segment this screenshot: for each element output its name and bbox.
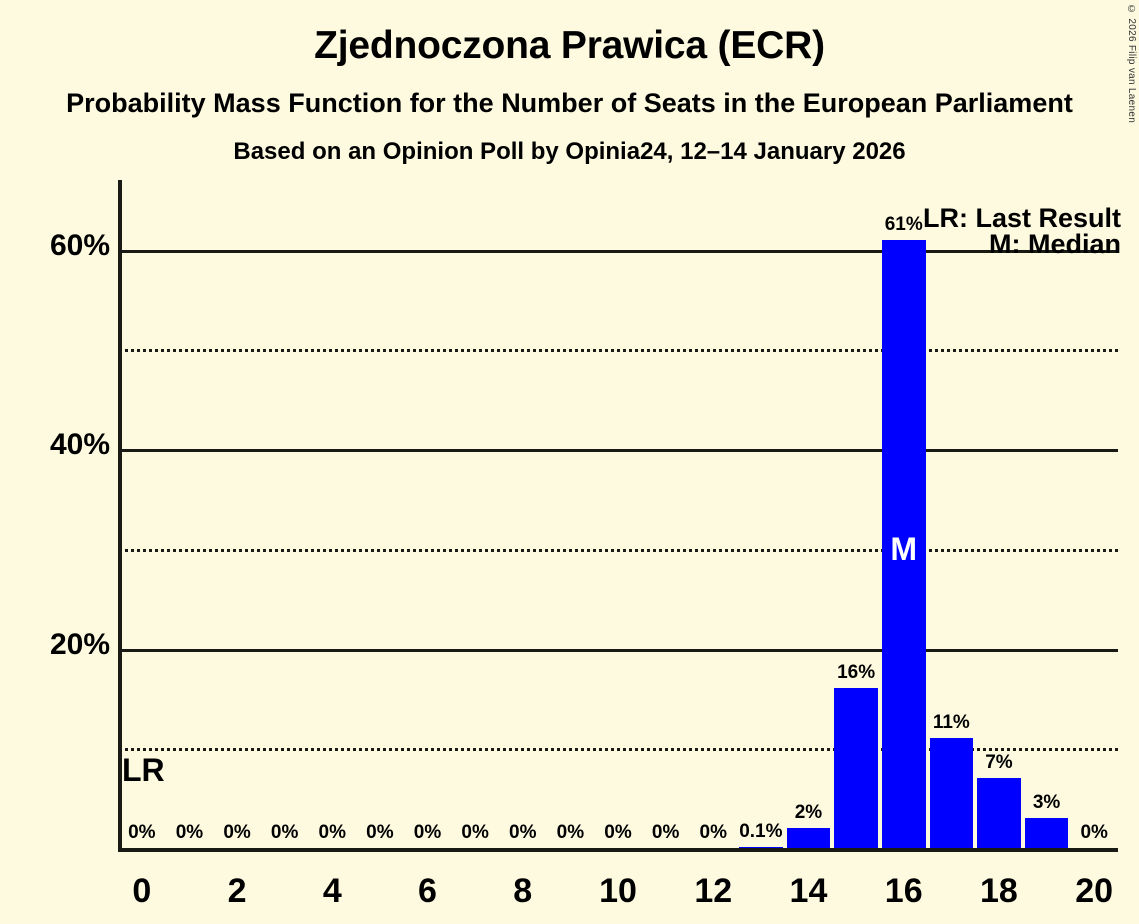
- bar-value-label: 2%: [758, 802, 858, 824]
- bar-value-label: 7%: [949, 752, 1049, 774]
- x-tick-label: 16: [864, 872, 944, 911]
- bar-value-label: 0%: [1044, 822, 1139, 844]
- plot-area: 0%0%0%0%0%0%0%0%0%0%0%0%0%0.1%2%16%61%11…: [118, 180, 1118, 852]
- x-tick-label: 6: [388, 872, 468, 911]
- gridline-major: [118, 649, 1118, 652]
- gridline-minor: [118, 349, 1118, 352]
- chart-subtitle-primary: Probability Mass Function for the Number…: [0, 88, 1139, 119]
- y-tick-label: 20%: [0, 628, 110, 662]
- x-axis-line: [118, 848, 1118, 852]
- bar-value-label: 3%: [997, 792, 1097, 814]
- bar-value-label: 11%: [901, 712, 1001, 734]
- x-tick-label: 2: [197, 872, 277, 911]
- x-tick-label: 10: [578, 872, 658, 911]
- chart-subtitle-secondary: Based on an Opinion Poll by Opinia24, 12…: [0, 138, 1139, 166]
- gridline-major: [118, 250, 1118, 253]
- gridline-minor: [118, 549, 1118, 552]
- copyright-notice: © 2026 Filip van Laenen: [1126, 4, 1137, 123]
- x-tick-label: 20: [1054, 872, 1134, 911]
- bar-value-label: 0.1%: [711, 821, 811, 843]
- median-marker: M: [874, 533, 934, 565]
- x-tick-label: 4: [292, 872, 372, 911]
- last-result-marker: LR: [122, 754, 212, 786]
- chart-page: Zjednoczona Prawica (ECR) Probability Ma…: [0, 0, 1139, 924]
- x-tick-label: 14: [768, 872, 848, 911]
- legend-median: M: Median: [989, 229, 1121, 260]
- bar: [739, 847, 783, 848]
- bar-value-label: 16%: [806, 662, 906, 684]
- page-title: Zjednoczona Prawica (ECR): [0, 24, 1139, 68]
- bar: [834, 688, 878, 848]
- y-tick-label: 60%: [0, 229, 110, 263]
- x-tick-label: 18: [959, 872, 1039, 911]
- y-tick-label: 40%: [0, 428, 110, 462]
- gridline-major: [118, 449, 1118, 452]
- x-tick-label: 12: [673, 872, 753, 911]
- x-tick-label: 0: [102, 872, 182, 911]
- x-tick-label: 8: [483, 872, 563, 911]
